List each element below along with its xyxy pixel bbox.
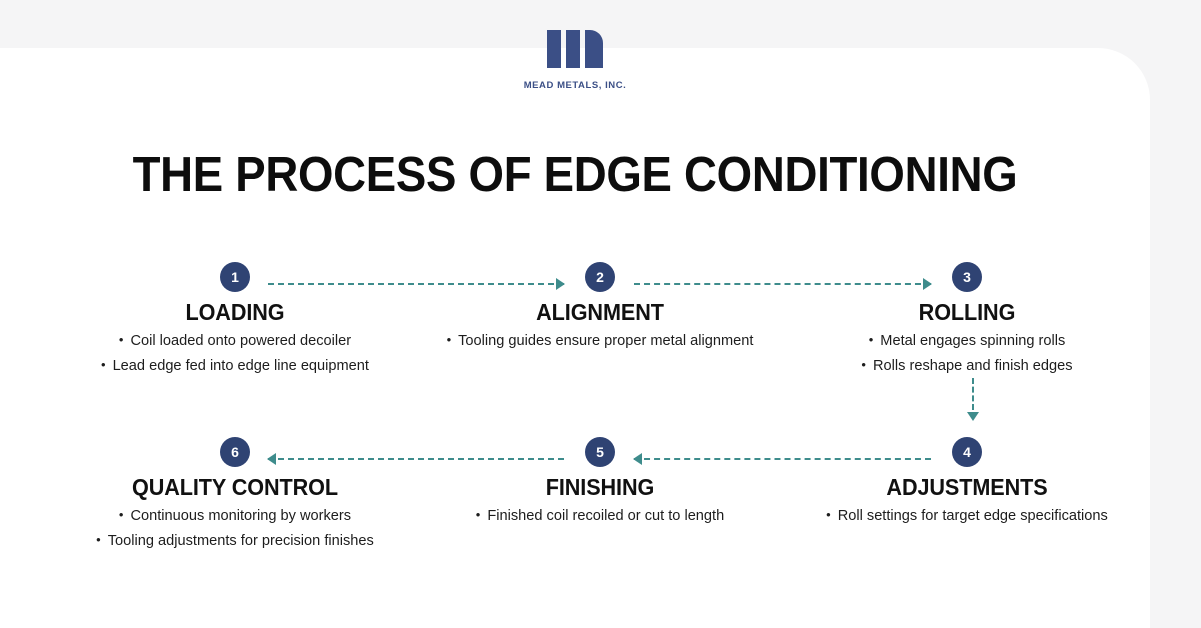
mead-metals-logo-mark-icon: [547, 30, 603, 68]
logo-bar-1: [547, 30, 561, 68]
list-item-text: Roll settings for target edge specificat…: [838, 508, 1108, 524]
brand-wordmark: MEAD METALS, INC.: [0, 80, 1150, 91]
step-title: FINISHING: [428, 474, 772, 500]
list-item-text: Tooling adjustments for precision finish…: [108, 533, 374, 549]
list-item: •Metal engages spinning rolls: [784, 328, 1150, 353]
list-item: •Tooling adjustments for precision finis…: [52, 528, 418, 553]
step-title: ALIGNMENT: [428, 299, 772, 325]
step-number-badge: 4: [952, 437, 982, 467]
dashed-line-vertical: [972, 378, 974, 410]
step-bullet-list: •Metal engages spinning rolls •Rolls res…: [784, 328, 1150, 378]
list-item: •Lead edge fed into edge line equipment: [52, 353, 418, 378]
list-item: •Coil loaded onto powered decoiler: [52, 328, 418, 353]
infographic-canvas: MEAD METALS, INC. THE PROCESS OF EDGE CO…: [0, 0, 1201, 628]
page-title: THE PROCESS OF EDGE CONDITIONING: [40, 148, 1110, 202]
list-item: •Rolls reshape and finish edges: [784, 353, 1150, 378]
step-bullet-list: •Continuous monitoring by workers •Tooli…: [52, 503, 418, 553]
bullet-dot-icon: •: [101, 353, 106, 377]
process-step-6: 6 QUALITY CONTROL •Continuous monitoring…: [52, 437, 418, 553]
step-number-badge: 2: [585, 262, 615, 292]
bullet-dot-icon: •: [119, 503, 124, 527]
list-item: •Finished coil recoiled or cut to length: [417, 503, 783, 528]
step-bullet-list: •Coil loaded onto powered decoiler •Lead…: [52, 328, 418, 378]
list-item-text: Lead edge fed into edge line equipment: [113, 358, 369, 374]
step-number-badge: 3: [952, 262, 982, 292]
step-title: LOADING: [63, 299, 407, 325]
bullet-dot-icon: •: [447, 328, 452, 352]
bullet-dot-icon: •: [476, 503, 481, 527]
bullet-dot-icon: •: [869, 328, 874, 352]
process-row-bottom: 6 QUALITY CONTROL •Continuous monitoring…: [0, 437, 1150, 587]
brand-logo: MEAD METALS, INC.: [0, 30, 1150, 91]
bullet-dot-icon: •: [826, 503, 831, 527]
list-item: •Roll settings for target edge specifica…: [784, 503, 1150, 528]
process-step-5: 5 FINISHING •Finished coil recoiled or c…: [417, 437, 783, 528]
process-step-1: 1 LOADING •Coil loaded onto powered deco…: [52, 262, 418, 378]
dashed-arrow-down-icon: [967, 412, 979, 421]
logo-bar-3: [585, 30, 603, 68]
step-title: ADJUSTMENTS: [795, 474, 1139, 500]
list-item: •Tooling guides ensure proper metal alig…: [417, 328, 783, 353]
step-title: ROLLING: [795, 299, 1139, 325]
step-number-badge: 1: [220, 262, 250, 292]
step-bullet-list: •Finished coil recoiled or cut to length: [417, 503, 783, 528]
list-item-text: Metal engages spinning rolls: [880, 333, 1065, 349]
step-bullet-list: •Tooling guides ensure proper metal alig…: [417, 328, 783, 353]
list-item-text: Continuous monitoring by workers: [130, 508, 351, 524]
bullet-dot-icon: •: [96, 528, 101, 552]
logo-bar-2: [566, 30, 580, 68]
list-item: •Continuous monitoring by workers: [52, 503, 418, 528]
step-number-badge: 5: [585, 437, 615, 467]
step-title: QUALITY CONTROL: [63, 474, 407, 500]
process-step-4: 4 ADJUSTMENTS •Roll settings for target …: [784, 437, 1150, 528]
step-number-badge: 6: [220, 437, 250, 467]
list-item-text: Finished coil recoiled or cut to length: [487, 508, 724, 524]
step-bullet-list: •Roll settings for target edge specifica…: [784, 503, 1150, 528]
bullet-dot-icon: •: [119, 328, 124, 352]
bullet-dot-icon: •: [861, 353, 866, 377]
process-step-3: 3 ROLLING •Metal engages spinning rolls …: [784, 262, 1150, 378]
list-item-text: Coil loaded onto powered decoiler: [130, 333, 351, 349]
connector-step3-step4: [966, 378, 980, 420]
list-item-text: Tooling guides ensure proper metal align…: [458, 333, 753, 349]
list-item-text: Rolls reshape and finish edges: [873, 358, 1073, 374]
process-step-2: 2 ALIGNMENT •Tooling guides ensure prope…: [417, 262, 783, 353]
